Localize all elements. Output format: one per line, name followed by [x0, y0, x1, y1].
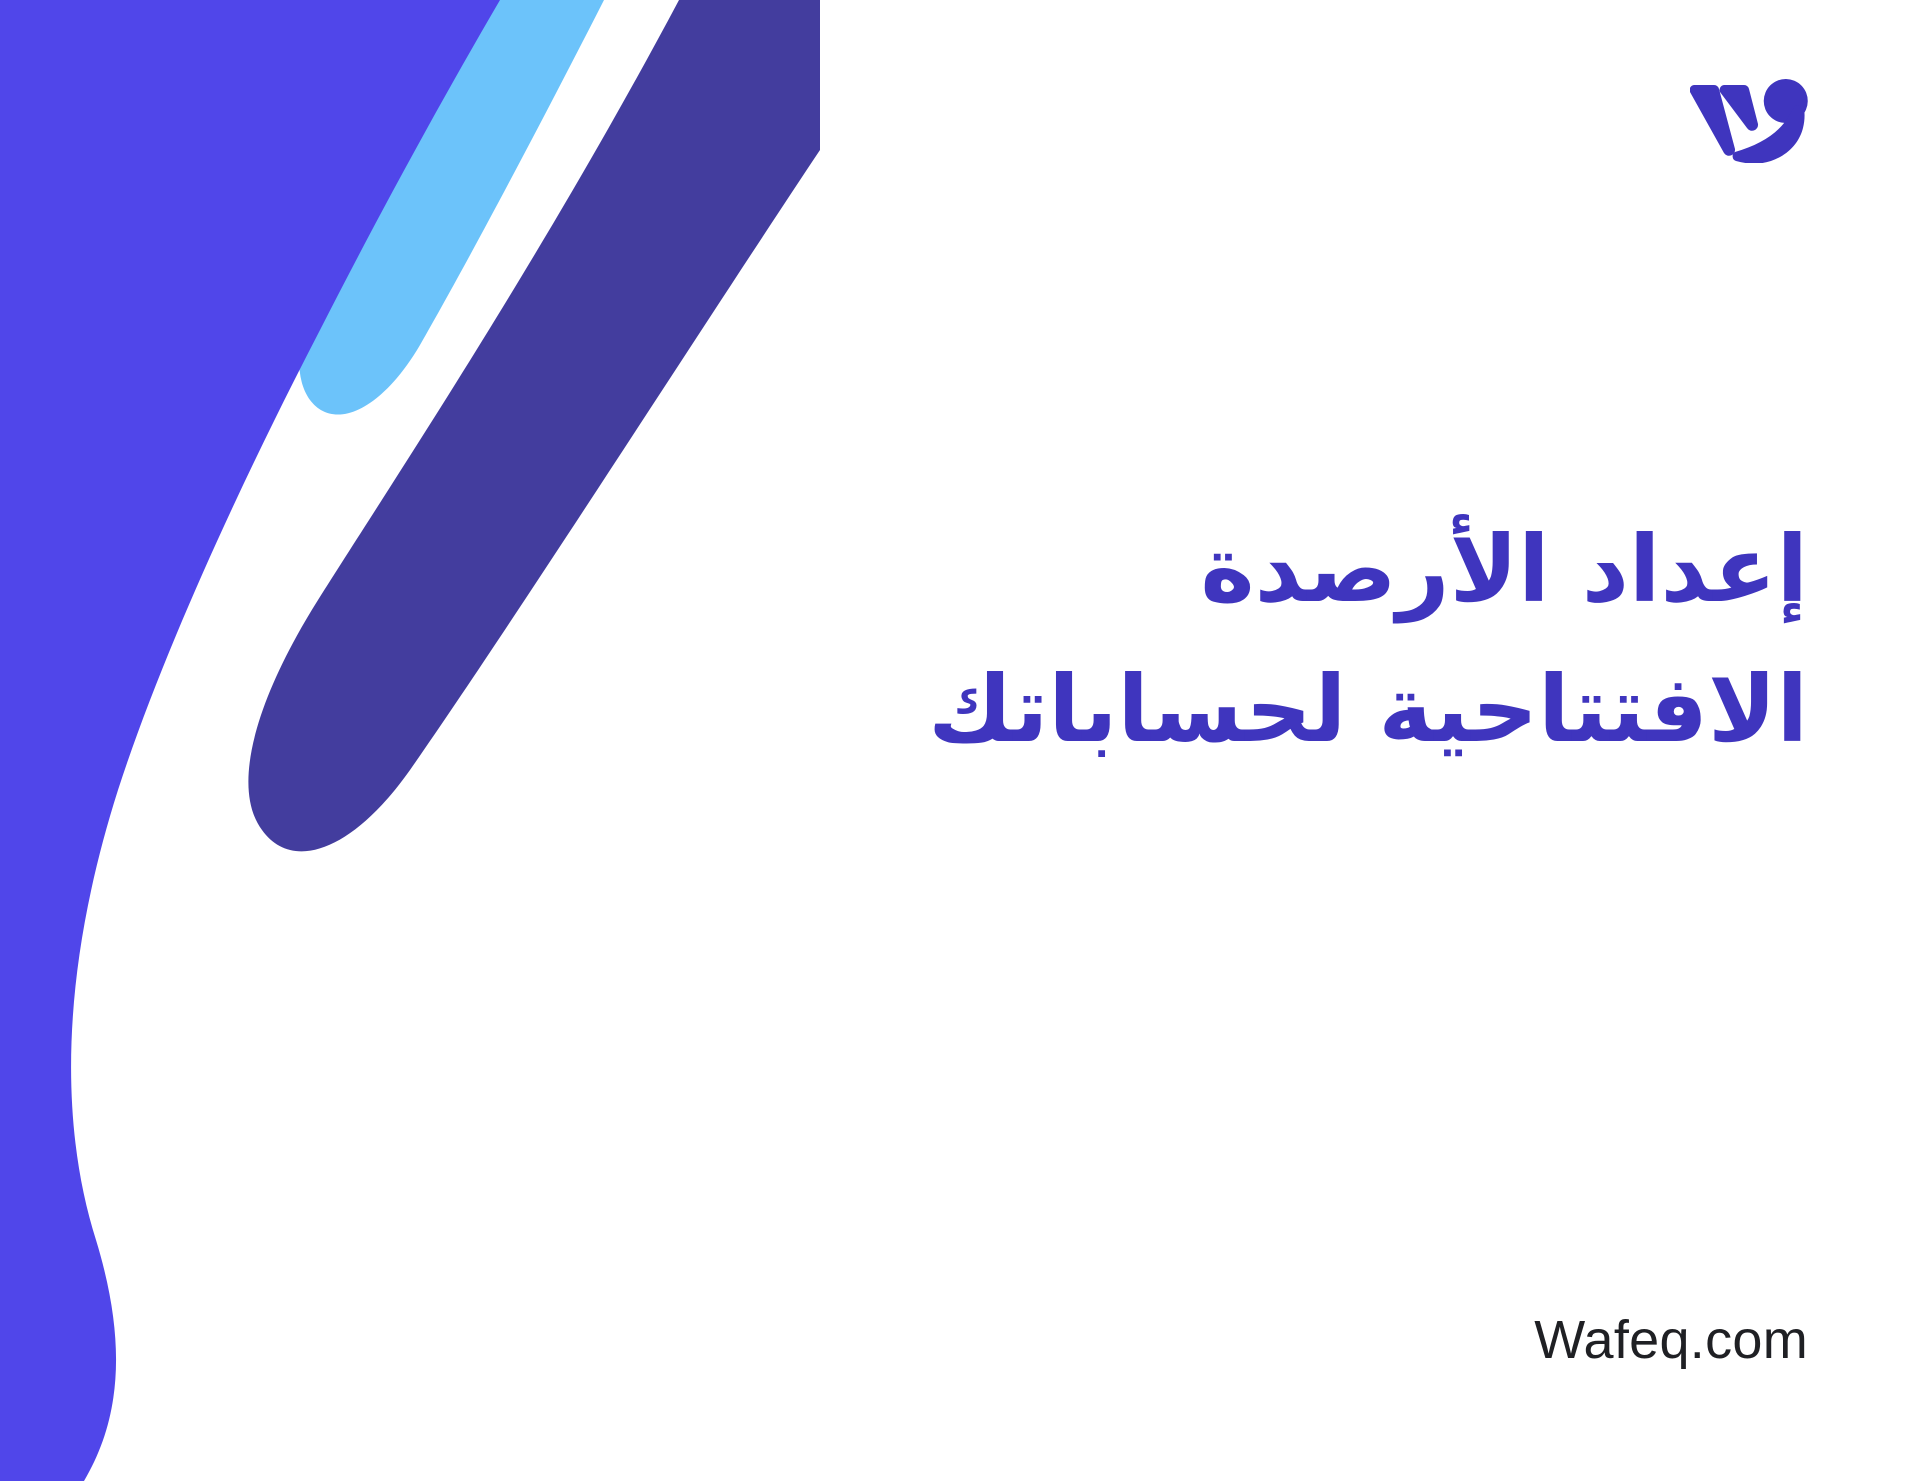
page-title: إعداد الأرصدة الافتتاحية لحساباتك — [848, 500, 1808, 780]
dark-purple-ribbon-shape — [248, 0, 820, 851]
slide-canvas: إعداد الأرصدة الافتتاحية لحساباتك Wafeq.… — [0, 0, 1920, 1481]
site-url[interactable]: Wafeq.com — [1534, 1309, 1808, 1371]
decorative-artwork — [0, 0, 820, 1481]
light-blue-ribbon-shape — [299, 0, 604, 415]
primary-blue-panel-shape — [0, 0, 500, 1481]
wafeq-logo — [1690, 55, 1808, 163]
headline-line-2: الافتتاحية لحساباتك — [848, 640, 1808, 780]
headline-line-1: إعداد الأرصدة — [848, 500, 1808, 640]
